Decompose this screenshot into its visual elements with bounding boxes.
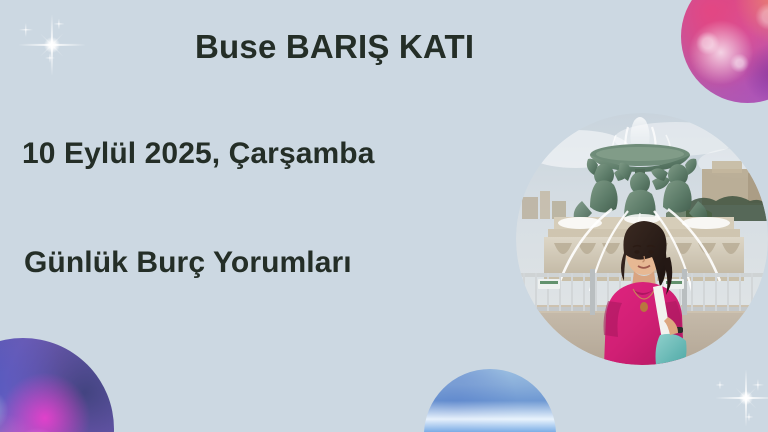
watercolor-circle-blue-icon	[424, 369, 556, 432]
sparkle-core	[44, 37, 60, 53]
sparkle-small-icon	[44, 52, 55, 63]
sparkle-small-icon	[715, 380, 725, 390]
date-text: 10 Eylül 2025, Çarşamba	[22, 137, 375, 171]
sparkle-small-icon	[744, 412, 754, 422]
watercolor-circle-pink-icon	[681, 0, 768, 103]
profile-photo	[516, 113, 768, 365]
subject-text: Günlük Burç Yorumları	[24, 246, 352, 280]
sparkle-star-icon	[700, 355, 768, 432]
sparkle-small-icon	[53, 18, 65, 30]
sparkle-core	[739, 391, 753, 405]
sparkle-star-icon	[2, 0, 102, 90]
sparkle-small-icon	[751, 378, 764, 391]
poster-canvas: Buse BARIŞ KATI 10 Eylül 2025, Çarşamba …	[0, 0, 768, 432]
page-title: Buse BARIŞ KATI	[195, 28, 474, 66]
watercolor-circle-purple-icon	[0, 338, 114, 432]
sparkle-ray-horizontal	[715, 397, 768, 399]
sparkle-small-icon	[18, 22, 34, 38]
sparkle-ray-horizontal	[18, 44, 86, 46]
